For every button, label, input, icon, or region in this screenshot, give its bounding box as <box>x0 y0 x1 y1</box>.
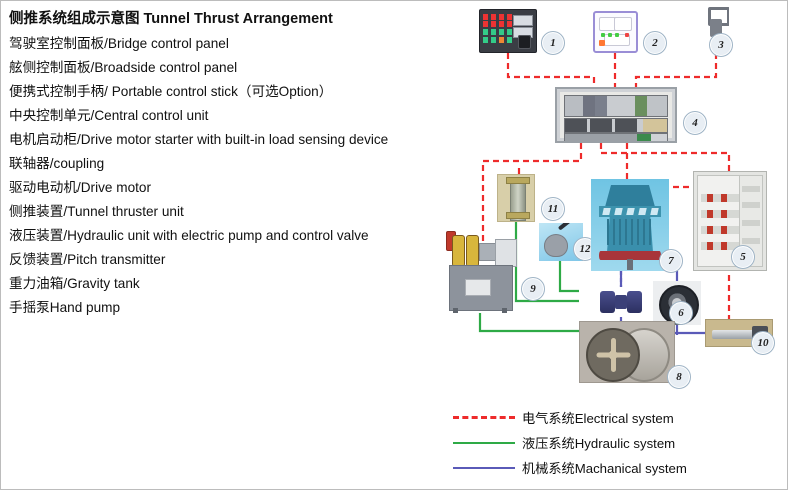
legend-swatch-hydraulic <box>453 442 515 444</box>
tunnel-thruster-image <box>579 321 675 383</box>
callout-8-tunnel-thruster-unit: 8 <box>667 365 691 389</box>
pump-lever <box>558 223 575 231</box>
hydraulic-filter-2 <box>466 235 479 267</box>
bridge-control-panel-image <box>479 9 537 53</box>
panel-joystick <box>518 35 531 49</box>
tank-cap-bottom <box>506 212 530 219</box>
component-item-5: 电机启动柜/Drive motor starter with built-in … <box>9 128 457 152</box>
broadside-led-green-1 <box>601 33 605 37</box>
component-item-3: 便携式控制手柄/ Portable control stick（可选Option… <box>9 80 457 104</box>
legend-row-mechanical: 机械系统Machanical system <box>453 455 783 480</box>
diagram-page: 侧推系统组成示意图 Tunnel Thrust Arrangement 驾驶室控… <box>0 0 788 490</box>
motor-vent-band <box>599 206 661 217</box>
gravity-tank-image <box>497 174 535 222</box>
component-item-7: 驱动电动机/Drive motor <box>9 176 457 200</box>
broadside-led-green-3 <box>615 33 619 37</box>
broadside-button-orange <box>599 40 605 46</box>
callout-11-gravity-tank: 11 <box>541 197 565 221</box>
drive-motor-starter-image <box>693 171 767 271</box>
legend-row-electrical: 电气系统Electrical system <box>453 405 783 430</box>
component-item-1: 驾驶室控制面板/Bridge control panel <box>9 32 457 56</box>
legend-label-electrical: 电气系统Electrical system <box>522 408 674 427</box>
motor-hood <box>605 185 655 207</box>
cabinet-row-plc <box>564 95 668 117</box>
drive-motor-image <box>591 179 669 271</box>
hydraulic-filter-1 <box>452 235 465 267</box>
component-legend-text: 侧推系统组成示意图 Tunnel Thrust Arrangement 驾驶室控… <box>9 9 457 320</box>
component-item-6: 联轴器/coupling <box>9 152 457 176</box>
motor-cooling-fins <box>607 219 653 245</box>
callout-10-pitch-transmitter: 10 <box>751 331 775 355</box>
callout-9-hydraulic-unit: 9 <box>521 277 545 301</box>
component-item-11: 重力油箱/Gravity tank <box>9 272 457 296</box>
hydraulic-unit-image <box>443 229 517 313</box>
legend-swatch-electrical <box>453 416 515 419</box>
cabinet-row-breakers <box>564 118 668 133</box>
broadside-led-red <box>625 33 629 37</box>
motor-shaft <box>627 259 633 270</box>
legend-row-hydraulic: 液压系统Hydraulic system <box>453 430 783 455</box>
panel-display-upper <box>513 15 533 26</box>
cabinet-interior <box>560 92 672 138</box>
component-item-4: 中央控制单元/Central control unit <box>9 104 457 128</box>
page-title: 侧推系统组成示意图 Tunnel Thrust Arrangement <box>9 9 457 29</box>
broadside-control-panel-image <box>593 11 638 53</box>
callout-3-portable-control-stick: 3 <box>709 33 733 57</box>
callout-5-drive-motor-starter: 5 <box>731 245 755 269</box>
legend-swatch-mechanical <box>453 467 515 469</box>
panel-button-grid <box>483 14 517 44</box>
callout-4-central-control-unit: 4 <box>683 111 707 135</box>
thruster-propeller <box>586 328 640 382</box>
coupling-image <box>599 287 643 317</box>
legend-label-mechanical: 机械系统Machanical system <box>522 458 687 477</box>
component-item-9: 液压装置/Hydraulic unit with electric pump a… <box>9 224 457 248</box>
hydraulic-leg-right <box>502 308 507 313</box>
broadside-led-green-2 <box>608 33 612 37</box>
transmitter-rod <box>712 330 754 339</box>
tank-cap-top <box>506 177 530 184</box>
hydraulic-leg-left <box>453 308 458 313</box>
component-item-12: 手摇泵Hand pump <box>9 296 457 320</box>
legend-label-hydraulic: 液压系统Hydraulic system <box>522 433 675 452</box>
coupling-half-left <box>600 291 615 313</box>
hydraulic-nameplate <box>465 279 491 296</box>
hydraulic-control-box <box>495 239 517 267</box>
pump-body <box>544 234 568 257</box>
central-control-unit-image <box>555 87 677 143</box>
coupling-half-right <box>627 291 642 313</box>
component-item-10: 反馈装置/Pitch transmitter <box>9 248 457 272</box>
component-item-2: 舷侧控制面板/Broadside control panel <box>9 56 457 80</box>
system-diagram: 1 2 3 4 <box>431 1 788 401</box>
callout-7-drive-motor: 7 <box>659 249 683 273</box>
callout-2-broadside-control-panel: 2 <box>643 31 667 55</box>
broadside-window-right <box>614 17 632 31</box>
coupling-center <box>615 295 627 309</box>
callout-1-bridge-control-panel: 1 <box>541 31 565 55</box>
cabinet-row-terminals <box>564 133 668 143</box>
component-item-8: 侧推装置/Tunnel thruster unit <box>9 200 457 224</box>
system-type-legend: 电气系统Electrical system 液压系统Hydraulic syst… <box>453 405 783 480</box>
